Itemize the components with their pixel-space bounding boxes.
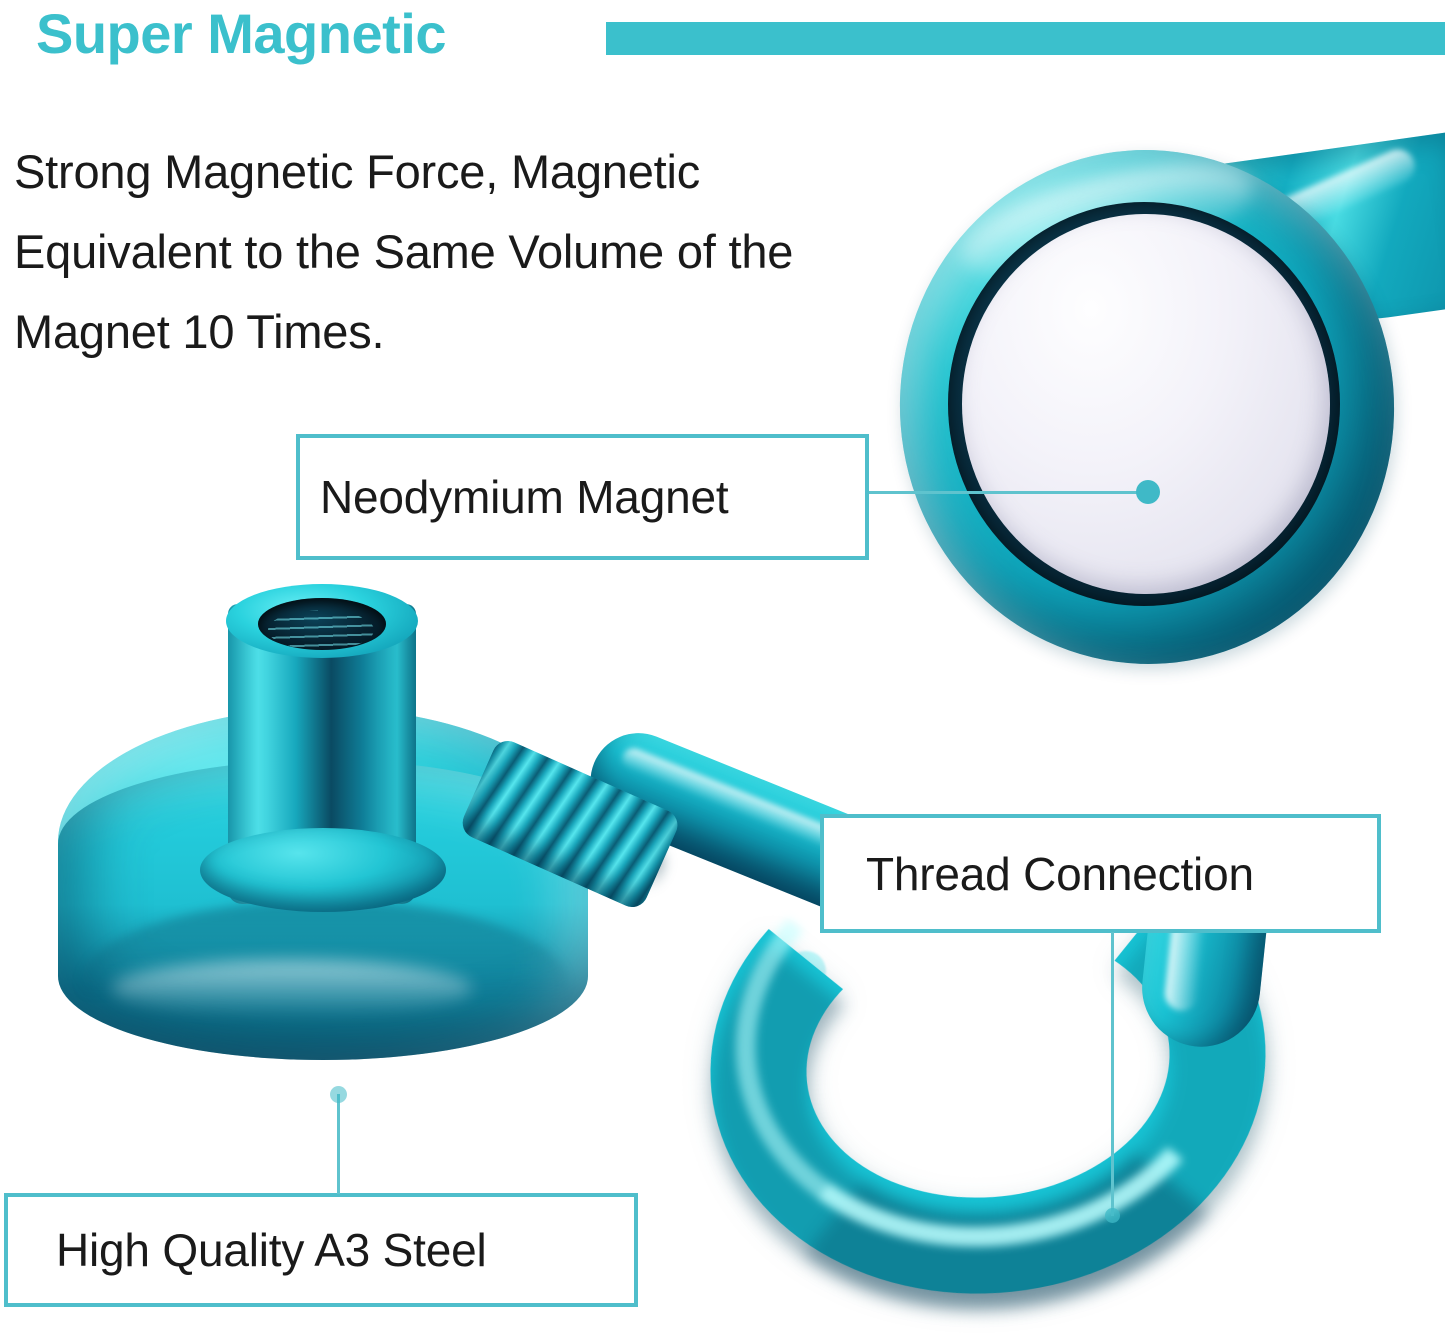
- leader-dot-thread: [1105, 1208, 1120, 1223]
- leader-dot-neodymium: [1136, 480, 1160, 504]
- leader-dot-steel: [330, 1086, 347, 1103]
- a3-steel-magnet-base-photo: [40, 560, 760, 1180]
- neodymium-disc: [962, 214, 1330, 594]
- callout-thread-connection[interactable]: Thread Connection: [820, 814, 1381, 933]
- callout-high-quality-a3-steel[interactable]: High Quality A3 Steel: [4, 1193, 638, 1307]
- magnet-base-highlight: [112, 960, 472, 1016]
- leader-line-thread: [1111, 932, 1114, 1216]
- callout-thread-connection-label: Thread Connection: [866, 847, 1254, 901]
- page-title: Super Magnetic: [36, 2, 446, 66]
- neodymium-magnet-face-photo: [884, 128, 1445, 738]
- callout-neodymium-magnet-label: Neodymium Magnet: [320, 470, 728, 524]
- leader-line-neodymium: [869, 491, 1149, 494]
- callout-neodymium-magnet[interactable]: Neodymium Magnet: [296, 434, 869, 560]
- threaded-post-flange: [200, 828, 446, 912]
- intro-paragraph: Strong Magnetic Force, Magnetic Equivale…: [14, 132, 914, 372]
- header-accent-bar: [606, 22, 1445, 55]
- leader-line-steel: [337, 1094, 340, 1194]
- internal-thread-bore: [258, 598, 386, 650]
- callout-high-quality-a3-steel-label: High Quality A3 Steel: [56, 1223, 487, 1277]
